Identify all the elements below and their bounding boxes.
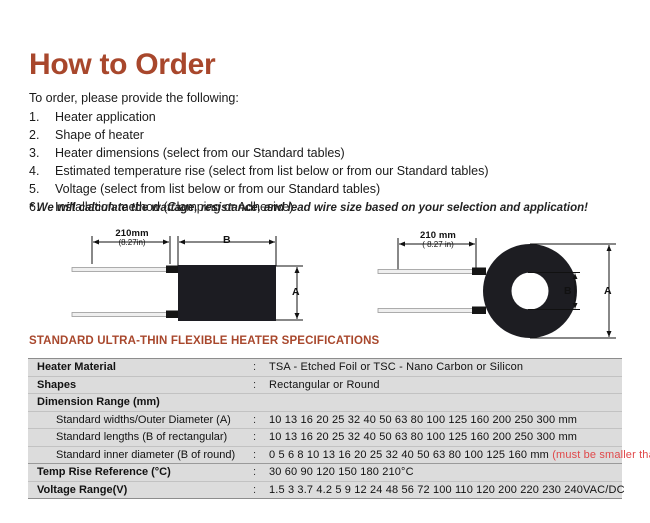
rectangular-heater-diagram: 210mm (8.27in) B A <box>60 228 320 343</box>
spec-table: Heater Material : TSA - Etched Foil or T… <box>28 358 622 499</box>
round-lead-length-in: ( 8.27 in) <box>405 241 471 249</box>
list-item: 2. Shape of heater <box>29 126 589 144</box>
rect-width-letter: B <box>223 234 231 246</box>
row-colon: : <box>253 361 269 373</box>
row-colon: : <box>253 431 269 443</box>
row-label: Standard lengths (B of rectangular) <box>28 431 253 443</box>
row-value: Rectangular or Round <box>269 379 622 391</box>
row-value: 10 13 16 20 25 32 40 50 63 80 100 125 16… <box>269 431 622 443</box>
list-item-label: Estimated temperature rise (select from … <box>55 162 589 180</box>
row-colon: : <box>253 379 269 391</box>
calculation-note: * We will calculate the wattage, resista… <box>29 203 588 215</box>
intro-text: To order, please provide the following: <box>29 92 239 105</box>
list-item-label: Heater dimensions (select from our Stand… <box>55 144 589 162</box>
table-row: Heater Material : TSA - Etched Foil or T… <box>28 359 622 377</box>
round-heater-diagram: 210 mm ( 8.27 in) B A <box>368 228 638 345</box>
list-item-number: 4. <box>29 162 55 180</box>
row-label: Standard widths/Outer Diameter (A) <box>28 414 253 426</box>
spec-section-title: STANDARD ULTRA-THIN FLEXIBLE HEATER SPEC… <box>29 336 379 348</box>
row-colon: : <box>253 449 269 461</box>
list-item-number: 1. <box>29 108 55 126</box>
row-value-text: 0 5 6 8 10 13 16 20 25 32 40 50 63 80 10… <box>269 449 549 461</box>
table-row: Voltage Range(V) : 1.5 3 3.7 4.2 5 9 12 … <box>28 482 622 499</box>
list-item: 4. Estimated temperature rise (select fr… <box>29 162 589 180</box>
list-item: 1. Heater application <box>29 108 589 126</box>
list-item-label: Heater application <box>55 108 589 126</box>
row-value: TSA - Etched Foil or TSC - Nano Carbon o… <box>269 361 622 373</box>
row-label: Standard inner diameter (B of round) <box>28 449 253 461</box>
heater-figures: 210mm (8.27in) B A <box>0 228 650 338</box>
table-row: Standard inner diameter (B of round) : 0… <box>28 447 622 465</box>
list-item-number: 3. <box>29 144 55 162</box>
table-row: Temp Rise Reference (°C) : 30 60 90 120 … <box>28 464 622 482</box>
row-colon: : <box>253 466 269 478</box>
table-row: Standard widths/Outer Diameter (A) : 10 … <box>28 412 622 430</box>
list-item: 5. Voltage (select from list below or fr… <box>29 180 589 198</box>
row-label: Heater Material <box>28 361 253 373</box>
row-colon: : <box>253 414 269 426</box>
order-steps-list: 1. Heater application 2. Shape of heater… <box>29 108 589 216</box>
row-colon: : <box>253 484 269 496</box>
row-value-warning: (must be smaller than A) <box>552 449 650 461</box>
row-value: 0 5 6 8 10 13 16 20 25 32 40 50 63 80 10… <box>269 449 650 461</box>
row-label: Temp Rise Reference (°C) <box>28 466 253 478</box>
row-label: Dimension Range (mm) <box>28 396 253 408</box>
page-title: How to Order <box>29 50 215 80</box>
table-row: Standard lengths (B of rectangular) : 10… <box>28 429 622 447</box>
table-row: Dimension Range (mm) <box>28 394 622 412</box>
rect-lead-length-label: 210mm (8.27in) <box>100 229 164 247</box>
round-lead-length-label: 210 mm ( 8.27 in) <box>405 231 471 249</box>
row-label: Shapes <box>28 379 253 391</box>
row-value: 10 13 16 20 25 32 40 50 63 80 100 125 16… <box>269 414 622 426</box>
row-value: 30 60 90 120 150 180 210°C <box>269 466 622 478</box>
rect-lead-length-in: (8.27in) <box>100 239 164 247</box>
rectangular-heater-svg <box>60 228 320 338</box>
rect-height-letter: A <box>292 286 300 298</box>
list-item: 3. Heater dimensions (select from our St… <box>29 144 589 162</box>
round-inner-diameter-letter: B <box>564 285 572 297</box>
round-outer-diameter-letter: A <box>604 285 612 297</box>
row-value: 1.5 3 3.7 4.2 5 9 12 24 48 56 72 100 110… <box>269 484 625 496</box>
list-item-label: Shape of heater <box>55 126 589 144</box>
table-row: Shapes : Rectangular or Round <box>28 377 622 395</box>
list-item-number: 2. <box>29 126 55 144</box>
row-label: Voltage Range(V) <box>28 484 253 496</box>
list-item-label: Voltage (select from list below or from … <box>55 180 589 198</box>
list-item-number: 5. <box>29 180 55 198</box>
